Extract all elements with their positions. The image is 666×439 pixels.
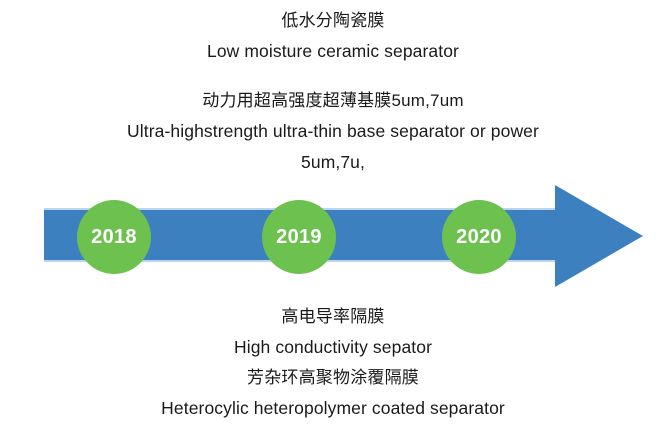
- bottom-text-line-cn-1: 高电导率隔膜: [0, 302, 666, 332]
- year-label-2020: 2020: [456, 227, 502, 247]
- year-label-2019: 2019: [276, 227, 322, 247]
- year-marker-2018[interactable]: 2018: [77, 200, 151, 274]
- timeline-diagram: 低水分陶瓷膜 Low moisture ceramic separator 动力…: [0, 0, 666, 439]
- top-text-line-cn-1: 低水分陶瓷膜: [0, 6, 666, 36]
- top-annotation-group-2: 动力用超高强度超薄基膜5um,7um Ultra-highstrength ul…: [0, 86, 666, 178]
- top-text-line-cn-2: 动力用超高强度超薄基膜5um,7um: [0, 86, 666, 116]
- year-marker-2020[interactable]: 2020: [442, 200, 516, 274]
- year-label-2018: 2018: [91, 227, 137, 247]
- top-text-line-en-1: Low moisture ceramic separator: [0, 36, 666, 67]
- top-text-line-en-2: Ultra-highstrength ultra-thin base separ…: [0, 116, 666, 147]
- bottom-text-line-en-1: High conductivity sepator: [0, 332, 666, 363]
- top-annotation-group-1: 低水分陶瓷膜 Low moisture ceramic separator: [0, 6, 666, 67]
- top-text-line-en-3: 5um,7u,: [0, 147, 666, 178]
- bottom-text-line-en-2: Heterocylic heteropolymer coated separat…: [0, 393, 666, 424]
- bottom-annotation-group: 高电导率隔膜 High conductivity sepator 芳杂环高聚物涂…: [0, 302, 666, 424]
- year-marker-2019[interactable]: 2019: [262, 200, 336, 274]
- bottom-text-line-cn-2: 芳杂环高聚物涂覆隔膜: [0, 363, 666, 393]
